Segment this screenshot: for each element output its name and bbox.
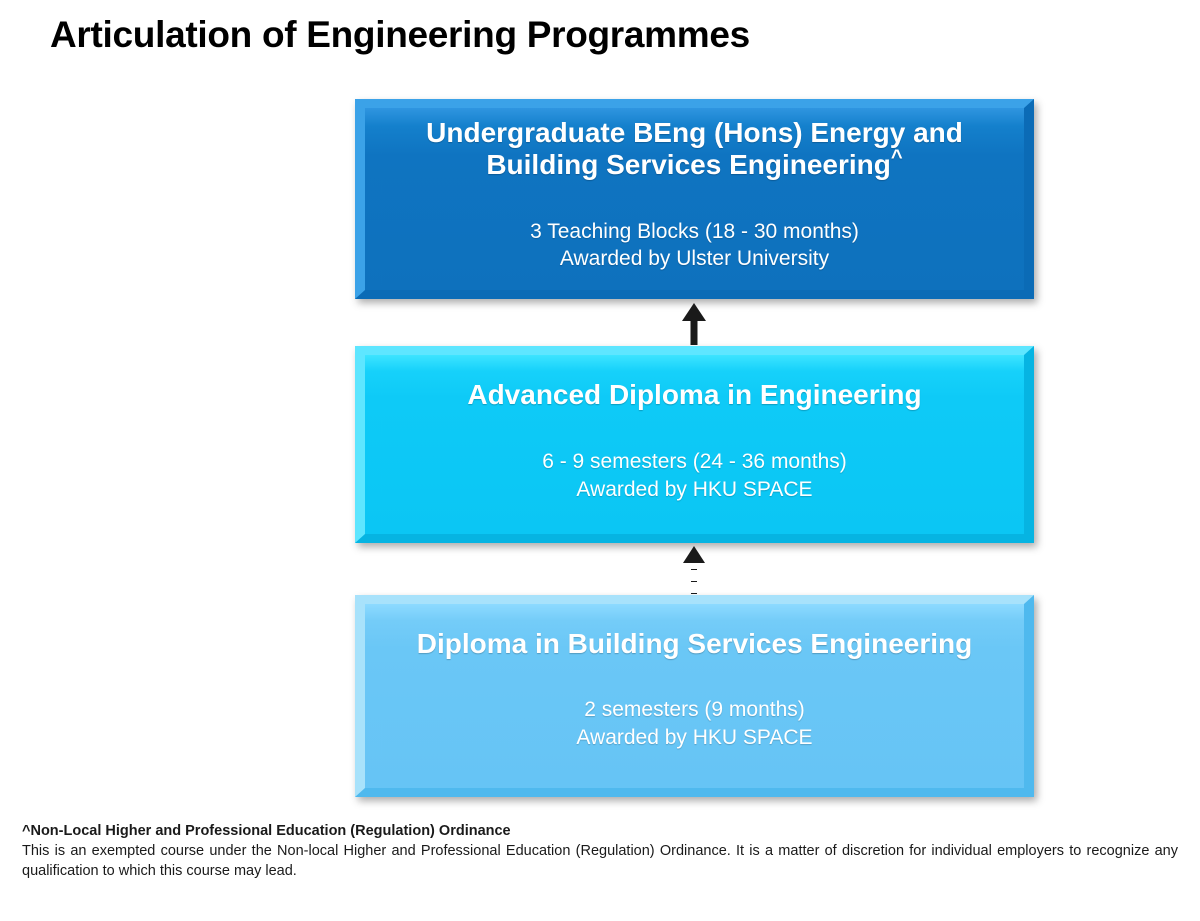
box-title-line-2: Building Services Engineering xyxy=(486,149,891,180)
up-arrow-icon xyxy=(672,303,716,345)
box-duration: 2 semesters (9 months) xyxy=(584,698,805,721)
flow-box-diploma[interactable]: Diploma in Building Services Engineering… xyxy=(355,595,1034,797)
footnote-marker-icon: ^ xyxy=(891,147,903,169)
flow-box-undergraduate-beng[interactable]: Undergraduate BEng (Hons) Energy and Bui… xyxy=(355,99,1034,299)
box-content: Diploma in Building Services Engineering… xyxy=(355,595,1034,797)
box-duration: 3 Teaching Blocks (18 - 30 months) xyxy=(530,220,859,243)
box-awarding-body: Awarded by Ulster University xyxy=(560,247,829,270)
footnote: ^Non-Local Higher and Professional Educa… xyxy=(22,822,1178,881)
box-duration: 6 - 9 semesters (24 - 36 months) xyxy=(542,450,847,473)
box-subtext-advanced-diploma: 6 - 9 semesters (24 - 36 months) Awarded… xyxy=(542,448,847,503)
box-title-undergraduate: Undergraduate BEng (Hons) Energy and Bui… xyxy=(426,117,963,182)
box-title-advanced-diploma: Advanced Diploma in Engineering xyxy=(467,379,921,411)
connector-arrow-advanced-diploma-to-undergraduate xyxy=(672,303,716,345)
box-content: Advanced Diploma in Engineering 6 - 9 se… xyxy=(355,346,1034,543)
box-subtext-undergraduate: 3 Teaching Blocks (18 - 30 months) Award… xyxy=(530,218,859,273)
box-title-diploma: Diploma in Building Services Engineering xyxy=(417,628,972,660)
footnote-body: This is an exempted course under the Non… xyxy=(22,842,1178,881)
box-content: Undergraduate BEng (Hons) Energy and Bui… xyxy=(355,99,1034,299)
box-awarding-body: Awarded by HKU SPACE xyxy=(576,478,812,501)
page-title: Articulation of Engineering Programmes xyxy=(50,14,750,57)
box-title-line-1: Undergraduate BEng (Hons) Energy and xyxy=(426,117,963,148)
box-awarding-body: Awarded by HKU SPACE xyxy=(576,726,812,749)
up-arrow-dotted-icon xyxy=(672,546,716,594)
footnote-heading: ^Non-Local Higher and Professional Educa… xyxy=(22,822,1178,841)
connector-arrow-diploma-to-advanced-diploma xyxy=(672,546,716,594)
flow-box-advanced-diploma[interactable]: Advanced Diploma in Engineering 6 - 9 se… xyxy=(355,346,1034,543)
box-subtext-diploma: 2 semesters (9 months) Awarded by HKU SP… xyxy=(576,696,812,751)
